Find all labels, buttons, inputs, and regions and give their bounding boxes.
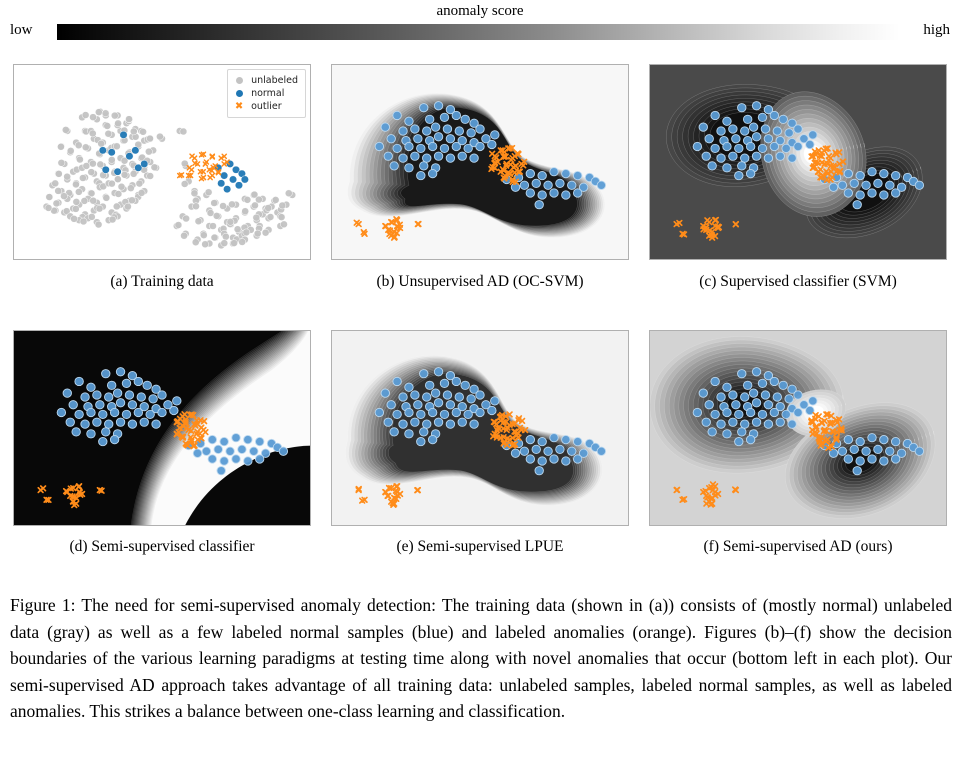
caption-panel-c: (c) Supervised classifier (SVM) — [649, 273, 947, 291]
panel-f-semisupervised-ad — [649, 330, 947, 526]
legend-item-outlier: ✖ outlier — [233, 100, 298, 113]
unlabeled-dot-icon — [233, 74, 245, 87]
colorbar-title: anomaly score — [0, 2, 960, 20]
panel-d-plot — [14, 331, 310, 525]
panel-e-semisupervised-lpue — [331, 330, 629, 526]
panel-a-training-data: unlabeled normal ✖ outlier — [13, 64, 311, 260]
legend-item-unlabeled: unlabeled — [233, 74, 298, 87]
legend-label-unlabeled: unlabeled — [251, 74, 298, 87]
colorbar-area: anomaly score low high — [0, 0, 960, 50]
legend-label-normal: normal — [251, 87, 284, 100]
colorbar-gradient — [57, 24, 900, 40]
panel-f-plot — [650, 331, 946, 525]
normal-dot-icon — [233, 87, 245, 100]
caption-panel-d: (d) Semi-supervised classifier — [13, 538, 311, 556]
colorbar-low-label: low — [10, 22, 33, 39]
panel-c-supervised-classifier — [649, 64, 947, 260]
figure-caption: Figure 1: The need for semi-supervised a… — [10, 592, 952, 725]
outlier-cross-icon: ✖ — [233, 100, 245, 113]
caption-panel-e: (e) Semi-supervised LPUE — [331, 538, 629, 556]
legend-label-outlier: outlier — [251, 100, 282, 113]
caption-panel-b: (b) Unsupervised AD (OC-SVM) — [331, 273, 629, 291]
panel-d-semisupervised-classifier — [13, 330, 311, 526]
panel-b-unsupervised-ad — [331, 64, 629, 260]
legend: unlabeled normal ✖ outlier — [227, 69, 306, 118]
legend-item-normal: normal — [233, 87, 298, 100]
panel-b-plot — [332, 65, 628, 259]
caption-panel-a: (a) Training data — [13, 273, 311, 291]
colorbar-high-label: high — [923, 22, 950, 39]
panel-c-plot — [650, 65, 946, 259]
caption-panel-f: (f) Semi-supervised AD (ours) — [649, 538, 947, 556]
panel-e-plot — [332, 331, 628, 525]
